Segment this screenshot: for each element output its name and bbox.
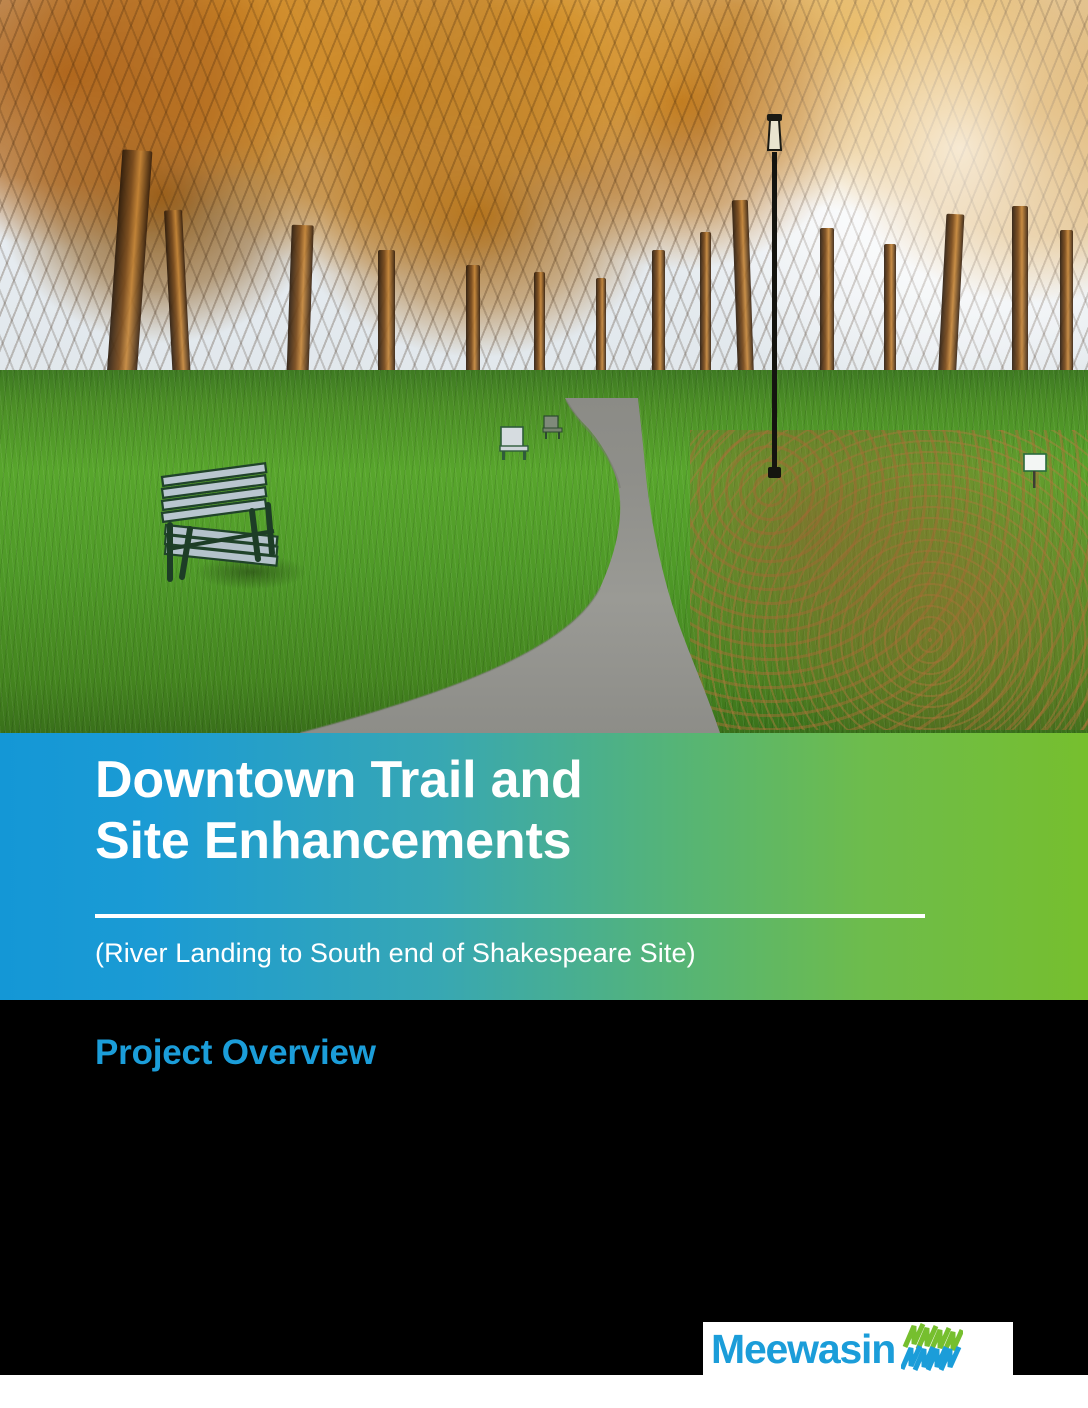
page-subtitle: (River Landing to South end of Shakespea…: [95, 938, 696, 969]
trail-sign: [1022, 452, 1048, 488]
park-bench: [148, 455, 308, 585]
lower-black-panel: Project Overview: [0, 1000, 1088, 1375]
page-bottom-margin: [0, 1375, 1088, 1408]
cover-photo: [0, 0, 1088, 733]
meewasin-wave-zigzag-mark: [901, 1323, 963, 1376]
title-divider-rule: [95, 914, 925, 918]
bench-distant: [495, 425, 539, 461]
page-title: Downtown Trail and Site Enhancements: [95, 750, 583, 873]
section-heading: Project Overview: [95, 1033, 376, 1073]
logo-wordmark: Meewasin: [711, 1329, 895, 1370]
bench-distant: [540, 415, 570, 441]
title-band-content: Downtown Trail and Site Enhancements (Ri…: [95, 733, 1088, 1000]
document-cover-page: Downtown Trail and Site Enhancements (Ri…: [0, 0, 1088, 1408]
meewasin-logo: Meewasin: [703, 1322, 1013, 1376]
lamp-post: [762, 112, 788, 482]
title-band: Downtown Trail and Site Enhancements (Ri…: [0, 733, 1088, 1000]
